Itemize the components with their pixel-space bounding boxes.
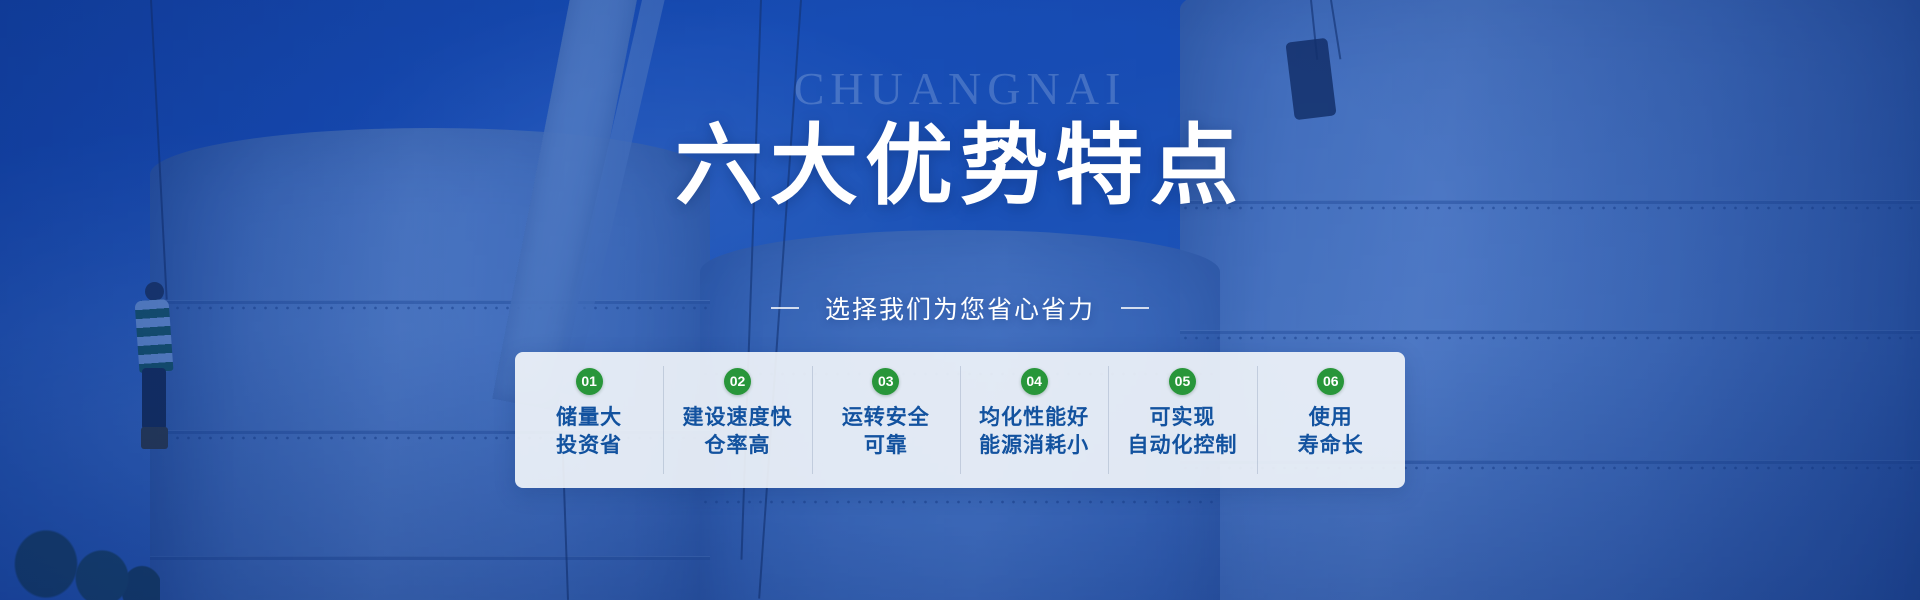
dash-right-icon	[1121, 307, 1149, 309]
page-subtitle: 选择我们为您省心省力	[825, 290, 1095, 326]
feature-label-line1: 可实现	[1149, 406, 1215, 429]
feature-card[interactable]: 04 均化性能好 能源消耗小	[960, 352, 1108, 488]
feature-label-line1: 使用	[1309, 406, 1353, 429]
page-title: 六大优势特点	[675, 118, 1245, 213]
feature-label-line2: 能源消耗小	[979, 432, 1089, 460]
feature-label: 可实现 自动化控制	[1127, 404, 1237, 459]
feature-label: 使用 寿命长	[1298, 404, 1364, 459]
feature-number-badge: 03	[872, 368, 899, 395]
feature-label: 建设速度快 仓率高	[682, 404, 792, 459]
subtitle-row: 选择我们为您省心省力	[771, 290, 1149, 326]
feature-number-badge: 01	[576, 368, 603, 395]
feature-card[interactable]: 06 使用 寿命长	[1257, 352, 1405, 488]
feature-label-line2: 可靠	[842, 432, 930, 460]
feature-label: 储量大 投资省	[556, 404, 622, 459]
watermark-text: CHUANGNAI	[794, 66, 1127, 112]
feature-number-badge: 04	[1021, 368, 1048, 395]
feature-label-line1: 均化性能好	[979, 406, 1089, 429]
feature-number-badge: 06	[1317, 368, 1344, 395]
feature-label-line1: 建设速度快	[682, 406, 792, 429]
features-panel: 01 储量大 投资省 02 建设速度快 仓率高 03 运转安全 可靠	[515, 352, 1405, 488]
feature-label: 均化性能好 能源消耗小	[979, 404, 1089, 459]
feature-card[interactable]: 05 可实现 自动化控制	[1108, 352, 1256, 488]
feature-card[interactable]: 03 运转安全 可靠	[812, 352, 960, 488]
feature-label-line2: 自动化控制	[1127, 432, 1237, 460]
feature-card[interactable]: 01 储量大 投资省	[515, 352, 663, 488]
feature-label-line1: 储量大	[556, 406, 622, 429]
feature-number-badge: 05	[1169, 368, 1196, 395]
dash-left-icon	[771, 307, 799, 309]
feature-label-line2: 寿命长	[1298, 432, 1364, 460]
feature-label-line1: 运转安全	[842, 406, 930, 429]
feature-card[interactable]: 02 建设速度快 仓率高	[663, 352, 811, 488]
banner-content: CHUANGNAI 六大优势特点 选择我们为您省心省力 01 储量大 投资省 0…	[0, 0, 1920, 600]
feature-label-line2: 仓率高	[682, 432, 792, 460]
feature-label-line2: 投资省	[556, 432, 622, 460]
promo-banner: CHUANGNAI 六大优势特点 选择我们为您省心省力 01 储量大 投资省 0…	[0, 0, 1920, 600]
feature-label: 运转安全 可靠	[842, 404, 930, 459]
feature-number-badge: 02	[724, 368, 751, 395]
